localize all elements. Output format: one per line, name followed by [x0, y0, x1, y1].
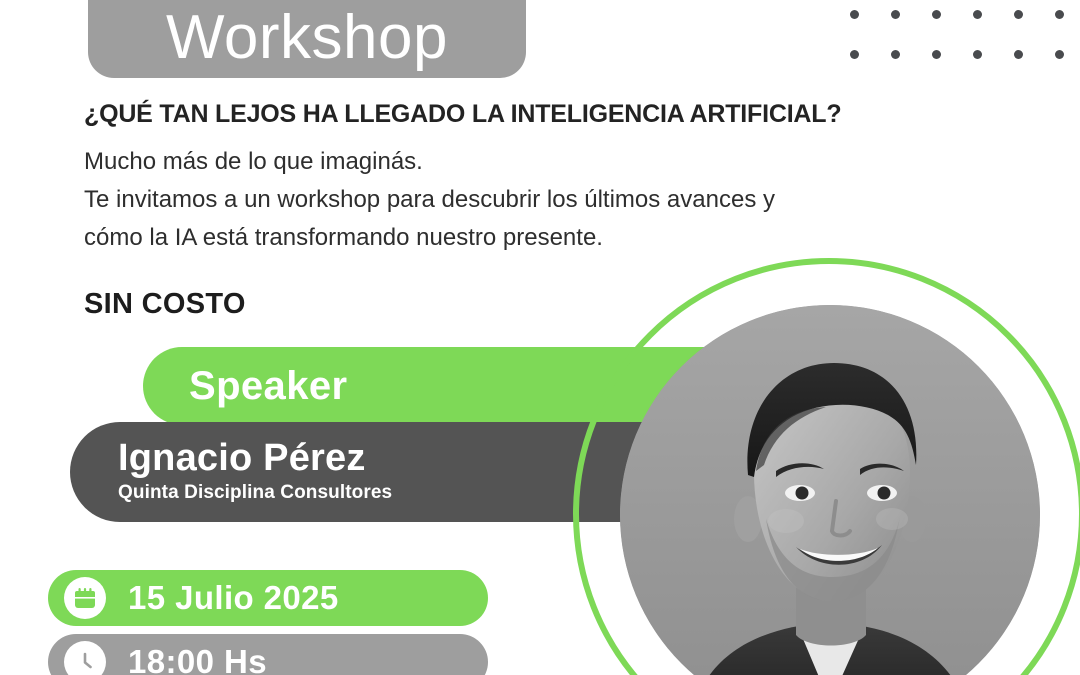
price-note: SIN COSTO — [84, 288, 246, 321]
event-date-pill: 15 Julio 2025 — [48, 570, 488, 626]
grid-dot — [973, 10, 982, 19]
grid-dot — [891, 50, 900, 59]
calendar-icon — [64, 577, 106, 619]
grid-dot — [1055, 10, 1064, 19]
headline-question: ¿QUÉ TAN LEJOS HA LLEGADO LA INTELIGENCI… — [84, 100, 964, 129]
body-line-2: Te invitamos a un workshop para descubri… — [84, 181, 984, 219]
speaker-section-label: Speaker — [189, 364, 347, 409]
grid-dot — [932, 50, 941, 59]
grid-dot — [932, 10, 941, 19]
grid-dot — [1055, 50, 1064, 59]
grid-dot — [850, 50, 859, 59]
grid-dot — [891, 10, 900, 19]
grid-dot — [973, 50, 982, 59]
event-date-label: 15 Julio 2025 — [128, 579, 339, 617]
workshop-title-label: Workshop — [166, 2, 448, 74]
grid-dot — [1014, 10, 1023, 19]
body-line-1: Mucho más de lo que imaginás. — [84, 143, 984, 181]
event-time-label: 18:00 Hs — [128, 643, 267, 675]
body-line-3: cómo la IA está transformando nuestro pr… — [84, 219, 984, 257]
dot-grid-decoration — [850, 10, 1080, 70]
clock-icon — [64, 641, 106, 675]
grid-dot — [850, 10, 859, 19]
flyer-canvas: Workshop ¿QUÉ TAN LEJOS HA LLEGADO LA IN… — [0, 0, 1080, 675]
body-copy: Mucho más de lo que imaginás. Te invitam… — [84, 143, 984, 257]
grid-dot — [1014, 50, 1023, 59]
workshop-title-pill: Workshop — [88, 0, 526, 78]
event-time-pill: 18:00 Hs — [48, 634, 488, 675]
